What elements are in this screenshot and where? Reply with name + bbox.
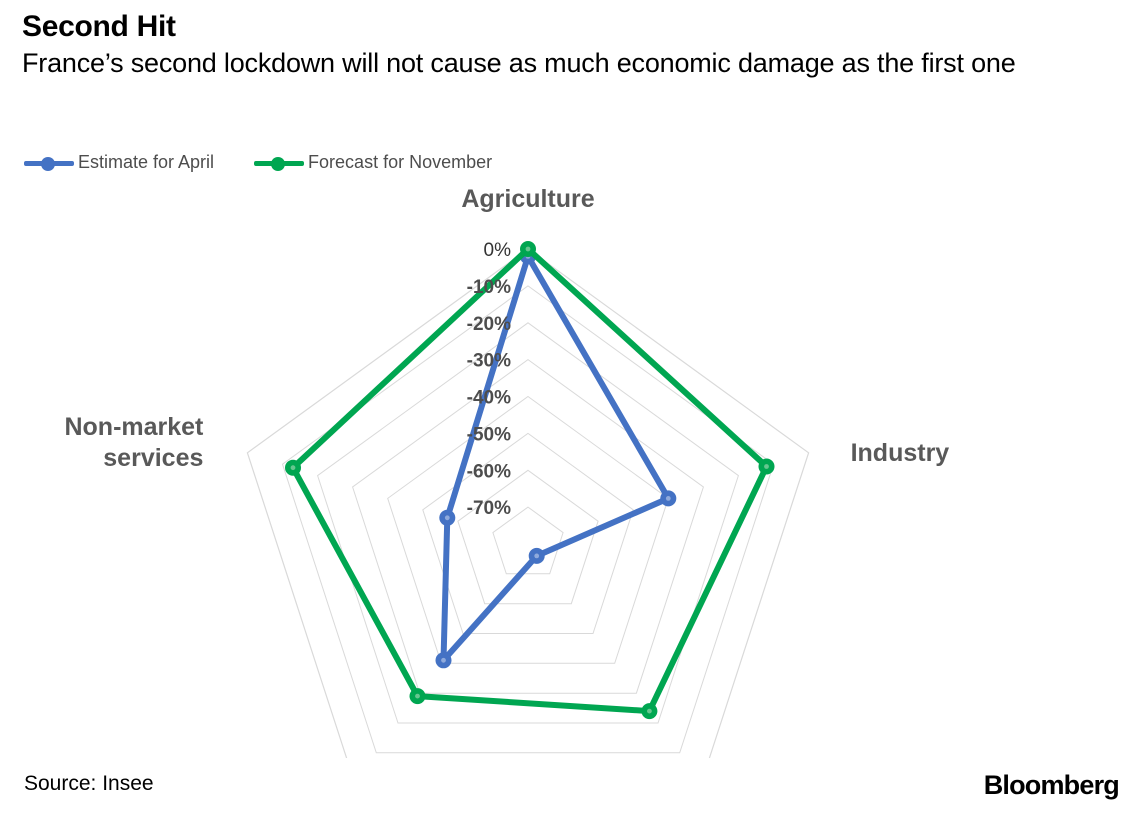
data-point[interactable] <box>759 459 775 475</box>
data-point[interactable] <box>285 460 301 476</box>
legend-item-estimate-for-april[interactable]: Estimate for April <box>24 152 214 173</box>
data-point[interactable] <box>520 241 536 257</box>
category-label: Non-market <box>64 413 204 441</box>
tick-label: -40% <box>467 388 511 409</box>
line-marker-icon <box>254 155 304 171</box>
data-point-center <box>764 464 769 469</box>
radar-chart: 0%-10%-20%-30%-40%-50%-60%-70% Agricultu… <box>0 178 1141 758</box>
data-point-center <box>415 694 420 699</box>
page-title: Second Hit <box>22 8 1122 46</box>
grid-ring <box>283 286 774 753</box>
radar-plot-area: 0%-10%-20%-30%-40%-50%-60%-70% Agricultu… <box>0 178 1141 758</box>
tick-label: -30% <box>467 351 511 372</box>
category-label: services <box>103 444 203 472</box>
series-line <box>293 249 767 711</box>
radar-series-layer <box>285 241 775 719</box>
tick-label: -20% <box>467 314 511 335</box>
tick-label: -10% <box>467 277 511 298</box>
data-point[interactable] <box>641 703 657 719</box>
legend-label: Forecast for November <box>308 152 492 173</box>
chart-footer: Source: Insee Bloomberg <box>0 770 1141 819</box>
data-point-center <box>647 709 652 714</box>
grid-ring <box>247 249 808 758</box>
category-label: Industry <box>851 439 950 467</box>
legend-item-forecast-for-november[interactable]: Forecast for November <box>254 152 492 173</box>
page-subtitle: France’s second lockdown will not cause … <box>22 46 1122 80</box>
data-point[interactable] <box>660 490 676 506</box>
data-point[interactable] <box>436 652 452 668</box>
data-point-center <box>445 515 450 520</box>
data-point-center <box>441 658 446 663</box>
data-point-center <box>666 496 671 501</box>
data-point-center <box>526 247 531 252</box>
tick-label: -60% <box>467 461 511 482</box>
data-point-center <box>291 465 296 470</box>
bloomberg-logo: Bloomberg <box>984 770 1119 801</box>
radar-gridlines <box>247 249 808 758</box>
tick-label: 0% <box>484 240 512 261</box>
legend-label: Estimate for April <box>78 152 214 173</box>
source-note: Source: Insee <box>24 772 154 796</box>
chart-header: Second Hit France’s second lockdown will… <box>22 8 1122 80</box>
category-label: Agriculture <box>461 185 594 213</box>
data-point[interactable] <box>529 548 545 564</box>
data-point[interactable] <box>439 510 455 526</box>
chart-page: Second Hit France’s second lockdown will… <box>0 0 1141 819</box>
data-point[interactable] <box>410 688 426 704</box>
grid-ring <box>353 360 704 694</box>
tick-label: -50% <box>467 424 511 445</box>
chart-legend: Estimate for April Forecast for November <box>24 152 492 173</box>
tick-label: -70% <box>467 498 511 519</box>
line-marker-icon <box>24 155 74 171</box>
data-point-center <box>534 554 539 559</box>
